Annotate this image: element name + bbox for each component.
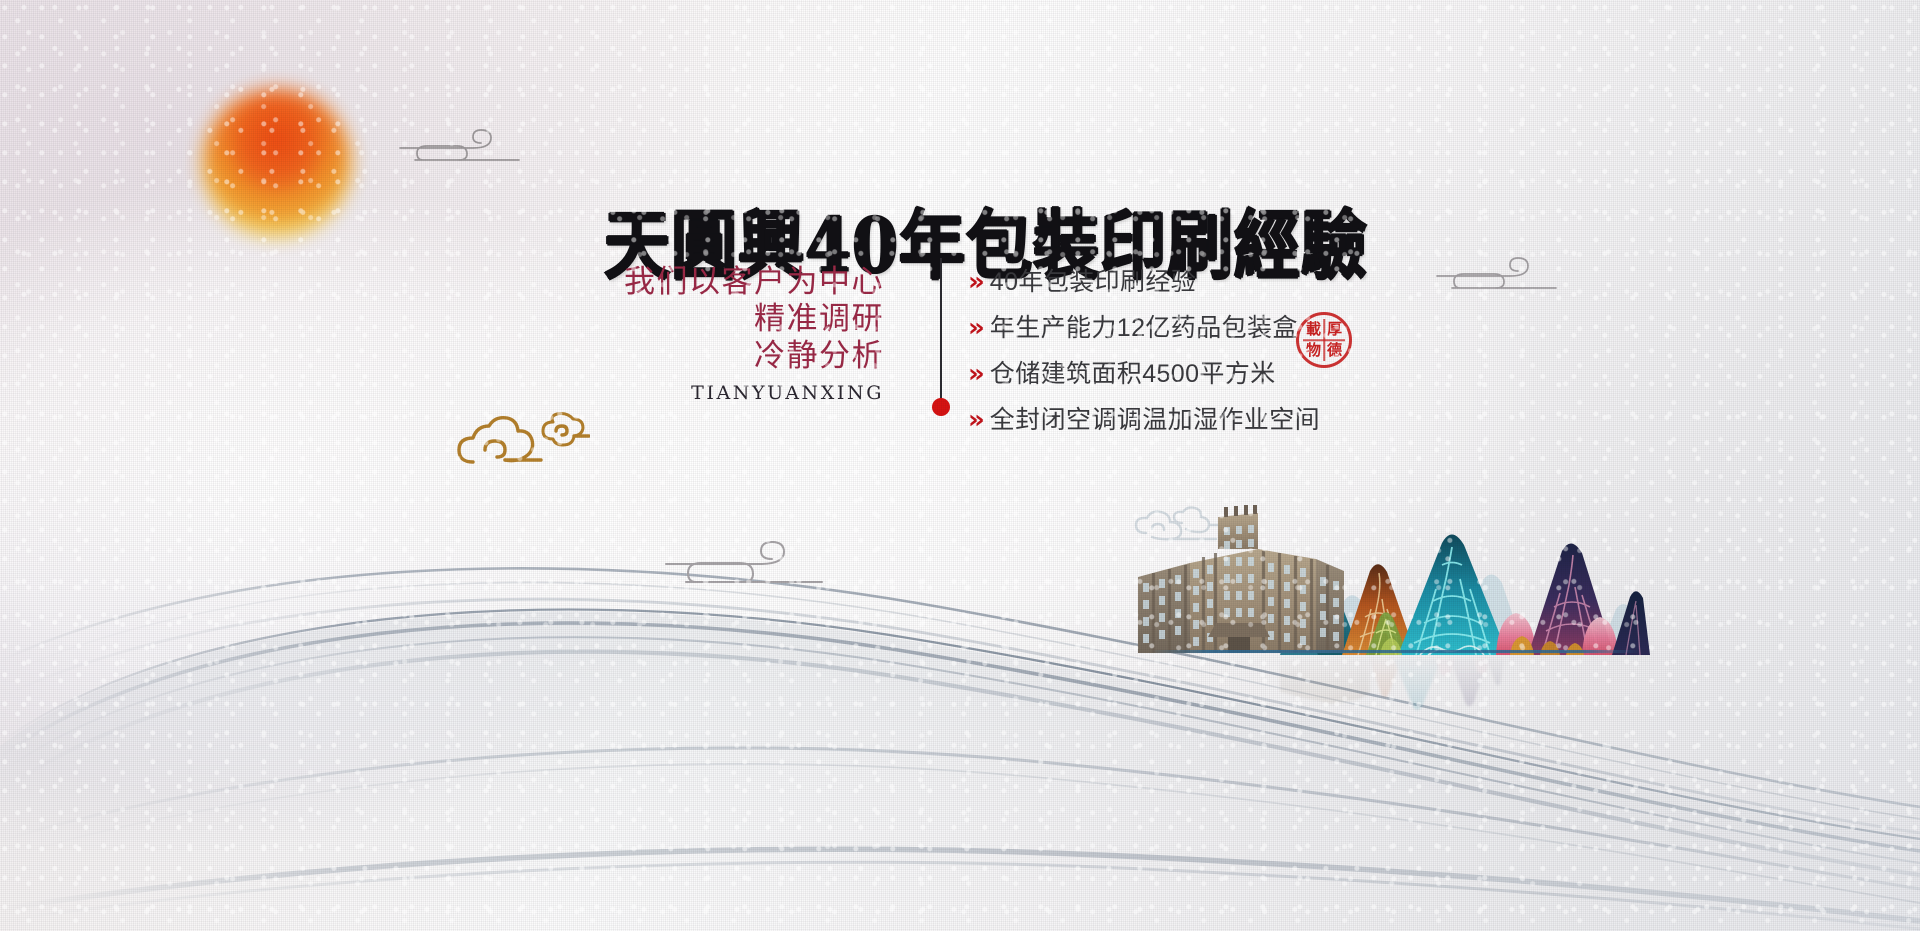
- soft-cloud-icon: [1136, 508, 1230, 540]
- banner-canvas: 天圓興40年包裝印刷經驗 我们以客户为中心 精准调研 冷静分析 TIANYUAN…: [0, 0, 1920, 931]
- line-cloud-right-icon: [1432, 248, 1562, 303]
- seal-char: 物: [1303, 340, 1324, 361]
- seal-characters: 載 厚 物 德: [1303, 319, 1345, 361]
- illustration-reflection: [1130, 653, 1650, 723]
- slogan-line-3: 冷静分析: [612, 338, 884, 375]
- seal-char: 載: [1303, 319, 1324, 340]
- chevron-right-icon: »: [968, 315, 985, 341]
- divider-dot-icon: [932, 398, 950, 416]
- line-cloud-top-icon: [395, 118, 525, 173]
- list-item: » 仓储建筑面积4500平方米: [968, 354, 1320, 391]
- list-item-label: 全封闭空调调温加湿作业空间: [990, 400, 1320, 436]
- list-item-label: 年生产能力12亿药品包装盒: [990, 308, 1298, 344]
- seal-char: 厚: [1324, 319, 1345, 340]
- line-cloud-bottom-icon: [660, 530, 830, 600]
- slogan-line-2: 精准调研: [612, 301, 884, 338]
- gold-cloud-icon: [455, 400, 590, 475]
- chevron-right-icon: »: [968, 407, 985, 433]
- list-item-label: 40年包装印刷经验: [990, 262, 1196, 298]
- company-seal-stamp: 載 厚 物 德: [1296, 312, 1352, 368]
- factory-building-and-mountains-illustration: [1130, 505, 1650, 665]
- seal-char: 德: [1324, 340, 1345, 361]
- list-item: » 年生产能力12亿药品包装盒: [968, 308, 1320, 345]
- list-item: » 40年包装印刷经验: [968, 262, 1320, 299]
- ground-baseline: [1150, 650, 1640, 653]
- vertical-divider: [940, 258, 942, 408]
- feature-list: » 40年包装印刷经验 » 年生产能力12亿药品包装盒 » 仓储建筑面积4500…: [968, 262, 1320, 446]
- sun-core-icon: [218, 104, 336, 216]
- list-item: » 全封闭空调调温加湿作业空间: [968, 400, 1320, 437]
- office-building: [1138, 505, 1344, 653]
- list-item-label: 仓储建筑面积4500平方米: [990, 354, 1276, 390]
- slogan-pinyin: TIANYUANXING: [612, 382, 884, 404]
- slogan-line-1: 我们以客户为中心: [612, 264, 884, 301]
- background-tint-bottomleft: [0, 430, 620, 850]
- slogan-block: 我们以客户为中心 精准调研 冷静分析 TIANYUANXING: [612, 264, 884, 404]
- chevron-right-icon: »: [968, 269, 985, 295]
- chevron-right-icon: »: [968, 361, 985, 387]
